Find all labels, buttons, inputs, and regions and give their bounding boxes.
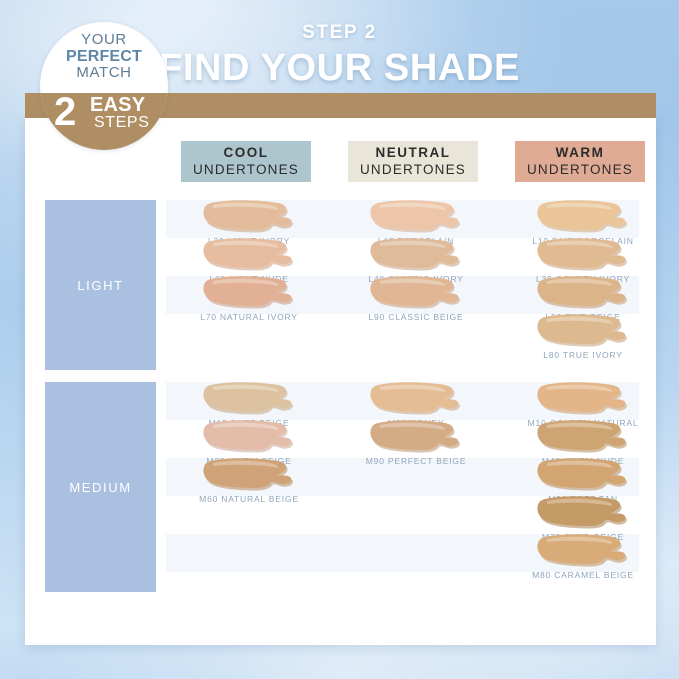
shade-cell-m90[interactable]: M90 PERFECT BEIGE [341,419,491,466]
shade-swatch-m50-icon [533,457,633,493]
shade-swatch-m80-icon [533,533,633,569]
shade-swatch-l40-icon [366,237,466,273]
shade-swatch-l20-icon [199,199,299,235]
shade-cell-l70[interactable]: L70 NATURAL IVORY [174,275,324,322]
shade-swatch-l15-icon [366,199,466,235]
shade-swatch-l70-icon [199,275,299,311]
shade-cell-m80[interactable]: M80 CARAMEL BEIGE [508,533,658,580]
shade-swatch-l90-icon [366,275,466,311]
shade-cell-l90[interactable]: L90 CLASSIC BEIGE [341,275,491,322]
shade-swatch-l60-icon [199,237,299,273]
shade-swatch-l50-icon [533,275,633,311]
shade-label-l70: L70 NATURAL IVORY [174,312,324,322]
shade-swatch-m15-icon [199,381,299,417]
shade-swatch-l80-icon [533,313,633,349]
shade-grid: L20 LIGHT IVORYL60 LIGHT NUDEL70 NATURAL… [0,0,679,679]
shade-label-m60: M60 NATURAL BEIGE [174,494,324,504]
shade-label-m80: M80 CARAMEL BEIGE [508,570,658,580]
shade-swatch-m20-icon [199,419,299,455]
shade-label-m90: M90 PERFECT BEIGE [341,456,491,466]
shade-swatch-m10-icon [533,381,633,417]
shade-swatch-l10-icon [533,199,633,235]
shade-label-l90: L90 CLASSIC BEIGE [341,312,491,322]
shade-swatch-m90-icon [366,419,466,455]
shade-swatch-m70-icon [533,495,633,531]
shade-swatch-m60-icon [199,457,299,493]
shade-swatch-l30-icon [533,237,633,273]
shade-swatch-m30-icon [366,381,466,417]
shade-cell-l80[interactable]: L80 TRUE IVORY [508,313,658,360]
shade-label-l80: L80 TRUE IVORY [508,350,658,360]
shade-swatch-m40-icon [533,419,633,455]
shade-cell-m60[interactable]: M60 NATURAL BEIGE [174,457,324,504]
